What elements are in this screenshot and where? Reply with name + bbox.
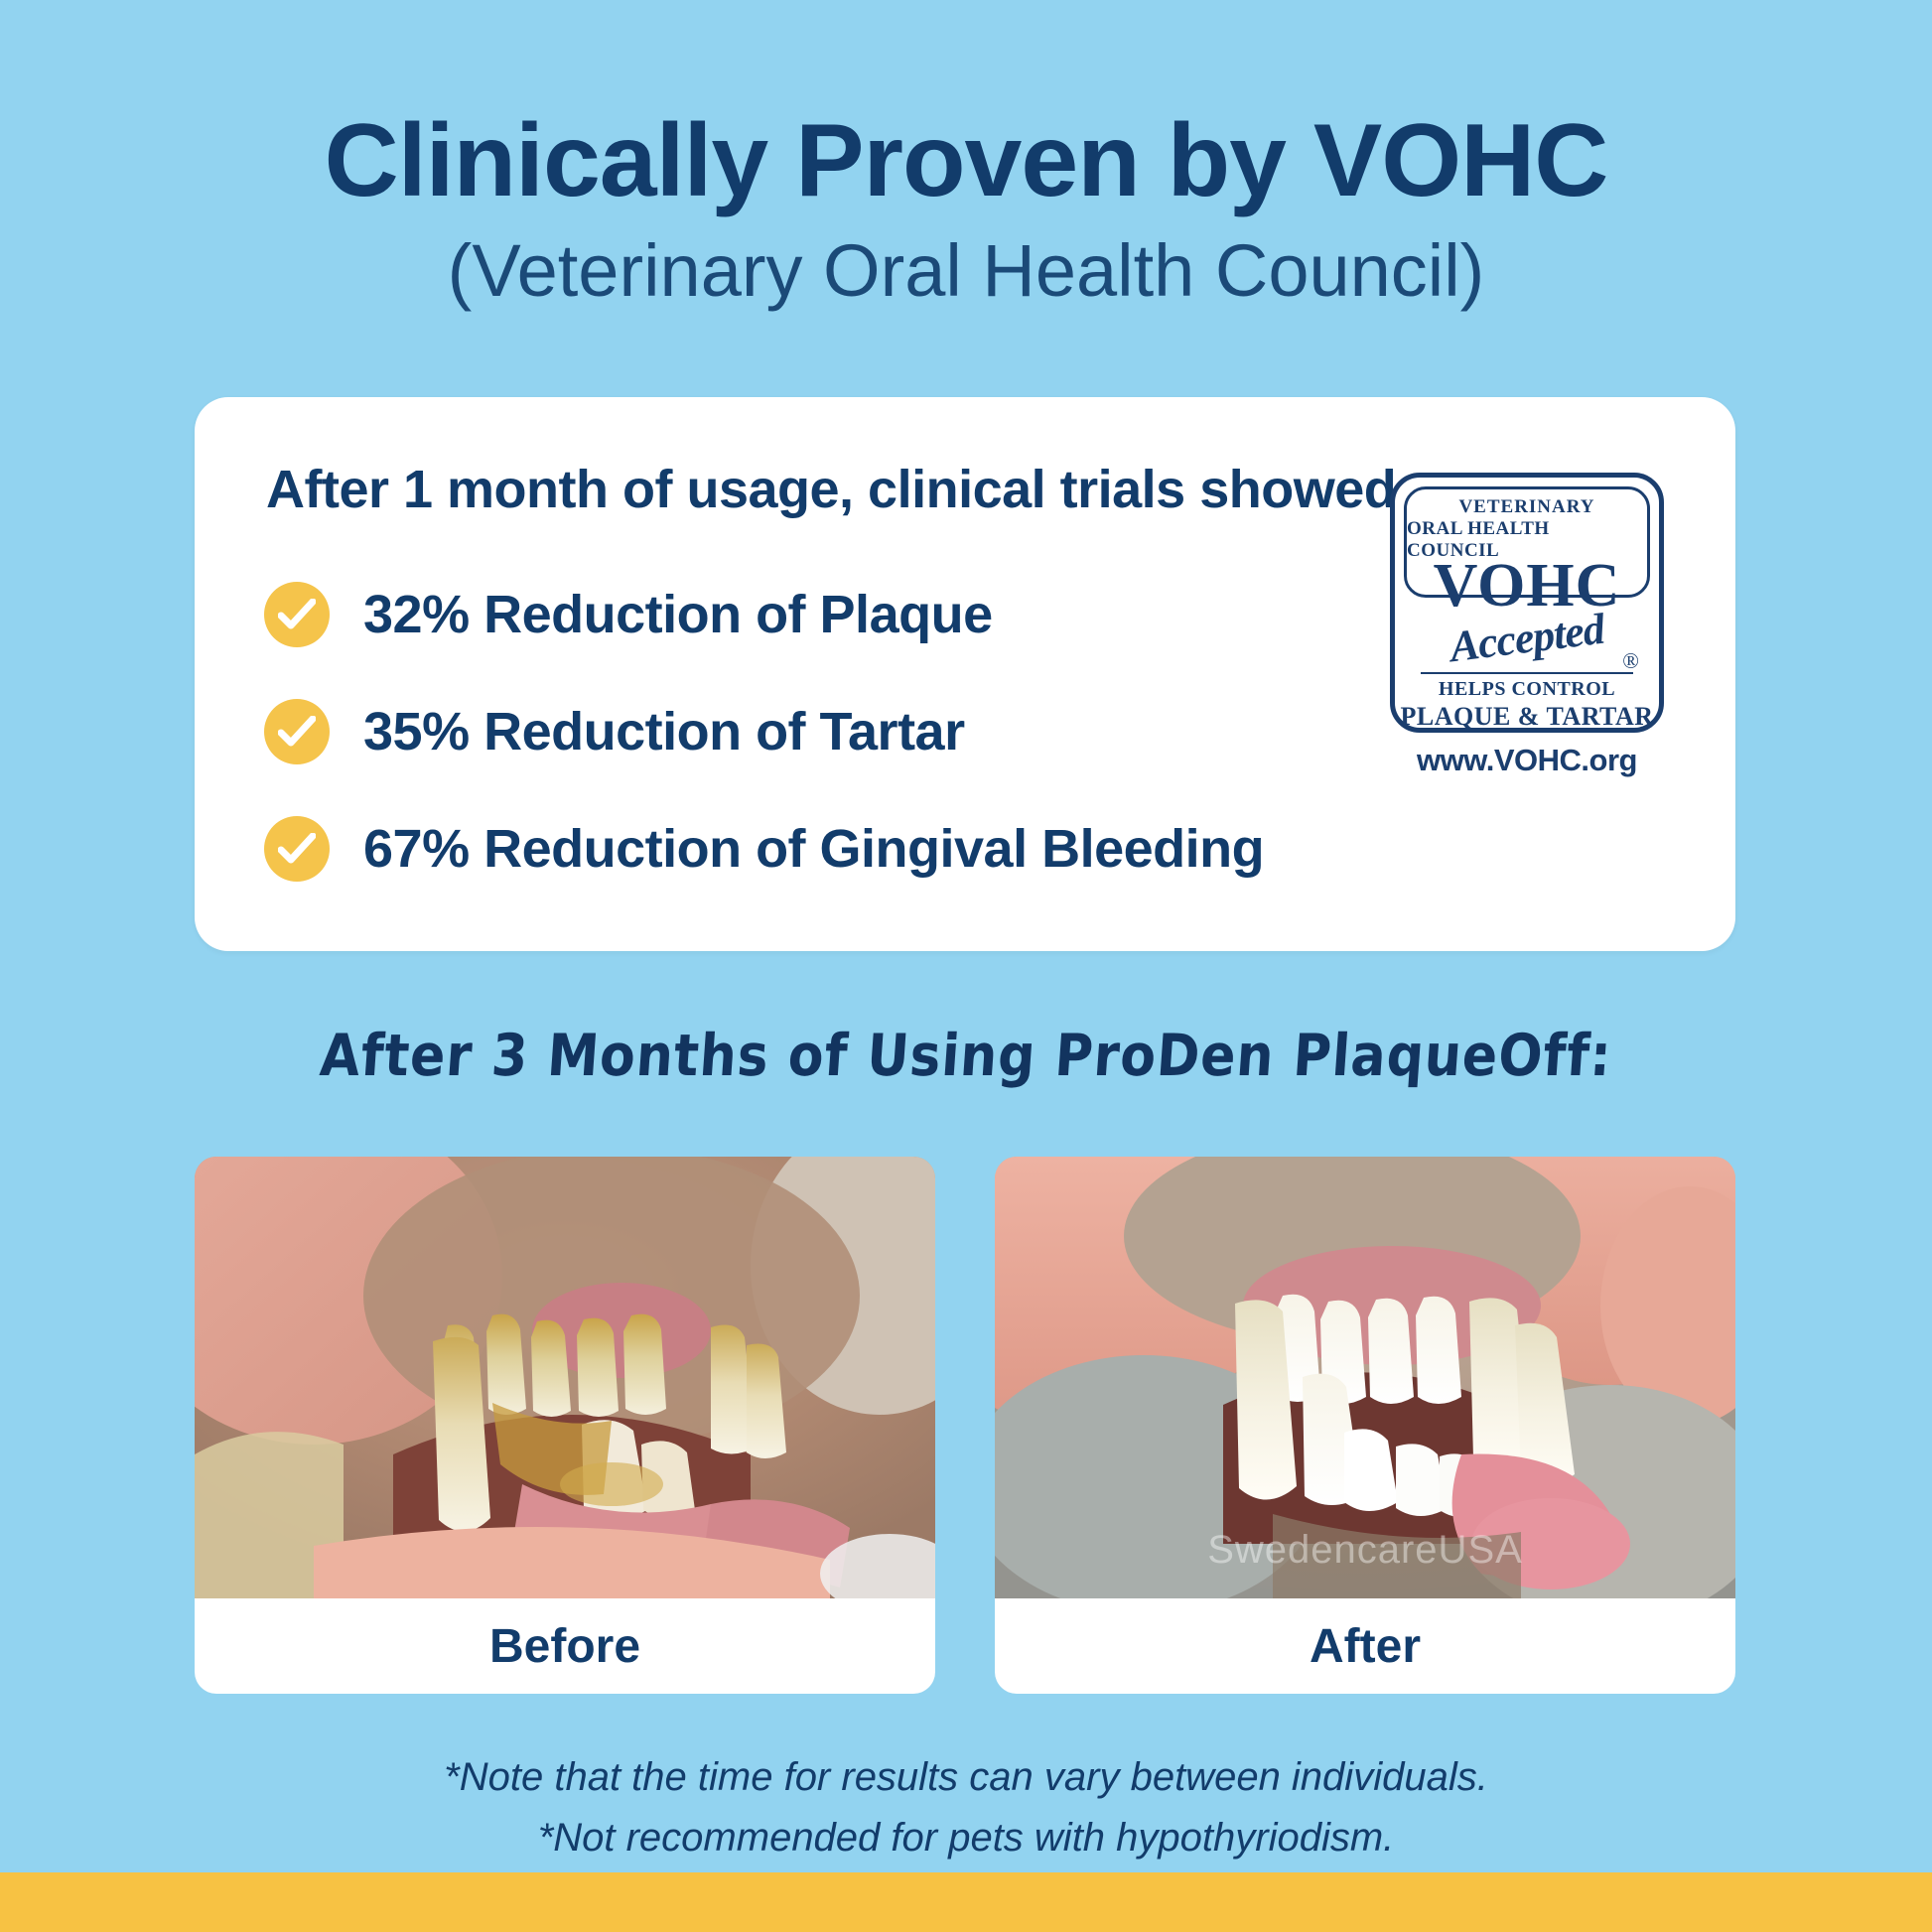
page-title: Clinically Proven by VOHC: [0, 107, 1932, 214]
seal-line-4: PLAQUE & TARTAR: [1395, 702, 1659, 732]
comparison-heading: After 3 Months of Using ProDen PlaqueOff…: [0, 1023, 1932, 1089]
check-icon: [264, 582, 330, 647]
list-item: 67% Reduction of Gingival Bleeding: [264, 790, 1654, 907]
seal-url: www.VOHC.org: [1417, 743, 1637, 778]
check-icon: [264, 699, 330, 764]
seal-line-3: HELPS CONTROL: [1395, 678, 1659, 701]
list-item-label: 32% Reduction of Plaque: [363, 584, 993, 645]
list-item-label: 35% Reduction of Tartar: [363, 701, 965, 762]
bottom-accent-bar: [0, 1872, 1932, 1932]
after-photo-image: [995, 1157, 1735, 1598]
seal-inner-box: VETERINARY ORAL HEALTH COUNCIL VOHC: [1404, 486, 1650, 598]
after-caption: After: [995, 1598, 1735, 1694]
infographic-page: Clinically Proven by VOHC (Veterinary Or…: [0, 0, 1932, 1932]
vohc-accepted-seal: VETERINARY ORAL HEALTH COUNCIL VOHC Acce…: [1390, 473, 1664, 790]
seal-line-1: VETERINARY: [1458, 496, 1594, 518]
before-photo-card: Before: [195, 1157, 935, 1694]
after-photo: SwedencareUSA: [995, 1157, 1735, 1598]
footnote-1: *Note that the time for results can vary…: [0, 1747, 1932, 1808]
footnote-2: *Not recommended for pets with hypothyri…: [0, 1808, 1932, 1868]
after-photo-card: SwedencareUSA After: [995, 1157, 1735, 1694]
seal-outer-box: VETERINARY ORAL HEALTH COUNCIL VOHC Acce…: [1390, 473, 1664, 733]
before-photo-image: [195, 1157, 935, 1598]
stats-card: After 1 month of usage, clinical trials …: [195, 397, 1735, 951]
page-subtitle: (Veterinary Oral Health Council): [0, 230, 1932, 311]
registered-trademark-icon: ®: [1622, 648, 1639, 674]
check-icon: [264, 816, 330, 882]
before-photo: [195, 1157, 935, 1598]
before-caption: Before: [195, 1598, 935, 1694]
seal-divider: [1421, 672, 1633, 674]
footnotes: *Note that the time for results can vary…: [0, 1747, 1932, 1868]
list-item-label: 67% Reduction of Gingival Bleeding: [363, 818, 1264, 880]
stats-card-title: After 1 month of usage, clinical trials …: [266, 459, 1414, 520]
